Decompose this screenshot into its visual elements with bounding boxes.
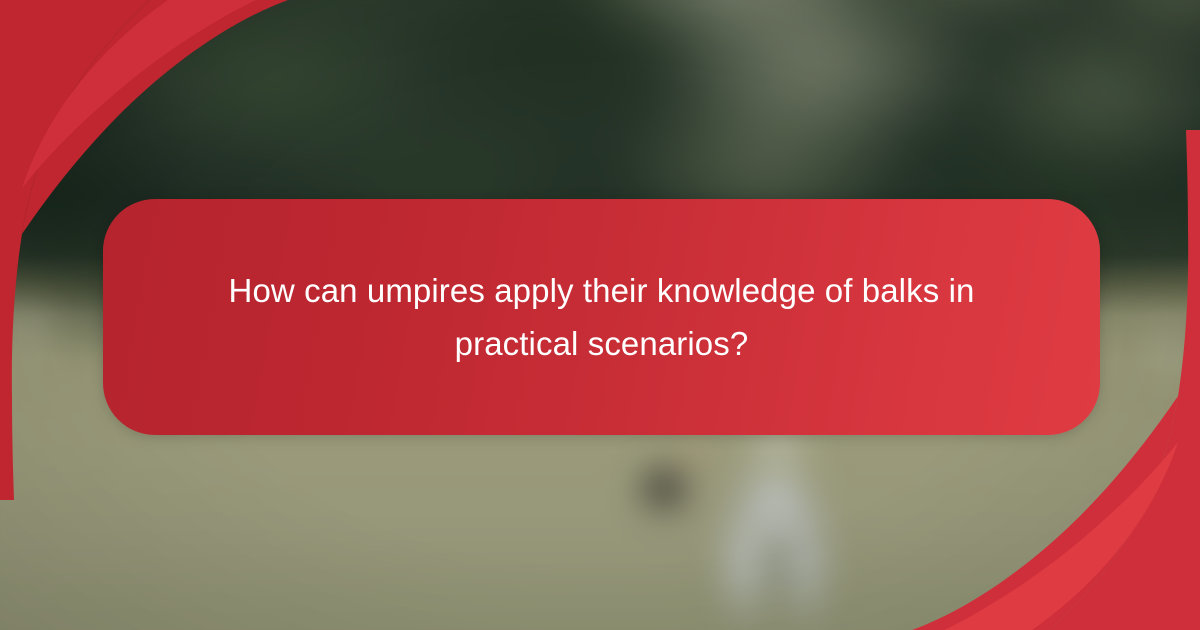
quote-card-graphic: How can umpires apply their knowledge of… xyxy=(0,0,1200,630)
quote-text: How can umpires apply their knowledge of… xyxy=(150,264,1054,371)
quote-card: How can umpires apply their knowledge of… xyxy=(103,199,1100,435)
